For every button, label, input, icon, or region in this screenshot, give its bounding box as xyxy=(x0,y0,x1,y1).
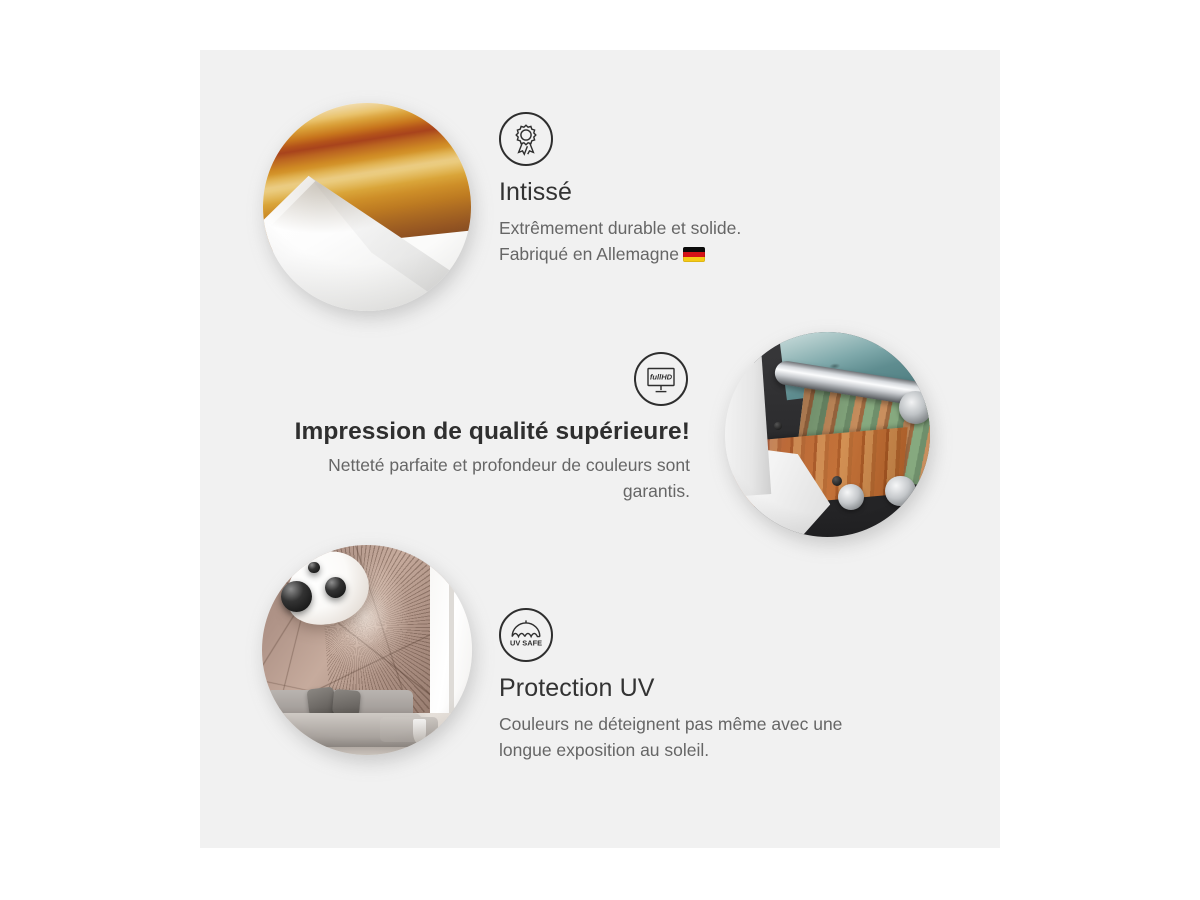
feature-description-line2: Fabriqué en Allemagne xyxy=(499,244,679,264)
feature-title: Protection UV xyxy=(499,674,919,703)
feature-description: Extrêmement durable et solide. Fabriqué … xyxy=(499,216,919,267)
svg-text:fullHD: fullHD xyxy=(650,373,673,382)
feature-block-impression: fullHD Impression de qualité supérieure!… xyxy=(286,352,690,504)
feature-image-wallpaper-roll xyxy=(263,103,471,311)
feature-description-line1: Extrêmement durable et solide. xyxy=(499,218,741,238)
feature-image-living-room-wallpaper xyxy=(262,545,472,755)
feature-title: Impression de qualité supérieure! xyxy=(286,418,690,446)
feature-description: Couleurs ne déteignent pas même avec une… xyxy=(499,712,919,763)
feature-block-intisse: Intissé Extrêmement durable et solide. F… xyxy=(499,112,919,267)
feature-image-large-format-printer xyxy=(725,332,930,537)
feature-description-line2: longue exposition au soleil. xyxy=(499,740,709,760)
fullhd-monitor-icon: fullHD xyxy=(634,352,688,406)
svg-text:UV SAFE: UV SAFE xyxy=(510,638,542,647)
feature-description: Netteté parfaite et profondeur de couleu… xyxy=(286,453,690,504)
feature-title: Intissé xyxy=(499,178,919,207)
feature-description-line1: Netteté parfaite et profondeur de couleu… xyxy=(328,455,690,475)
feature-block-uv-protection: UV SAFE Protection UV Couleurs ne déteig… xyxy=(499,608,919,763)
feature-description-line2: garantis. xyxy=(623,481,690,501)
product-feature-infographic: Intissé Extrêmement durable et solide. F… xyxy=(0,0,1200,900)
feature-description-line1: Couleurs ne déteignent pas même avec une xyxy=(499,714,842,734)
award-ribbon-icon xyxy=(499,112,553,166)
uv-safe-umbrella-icon: UV SAFE xyxy=(499,608,553,662)
german-flag-icon xyxy=(683,247,705,262)
